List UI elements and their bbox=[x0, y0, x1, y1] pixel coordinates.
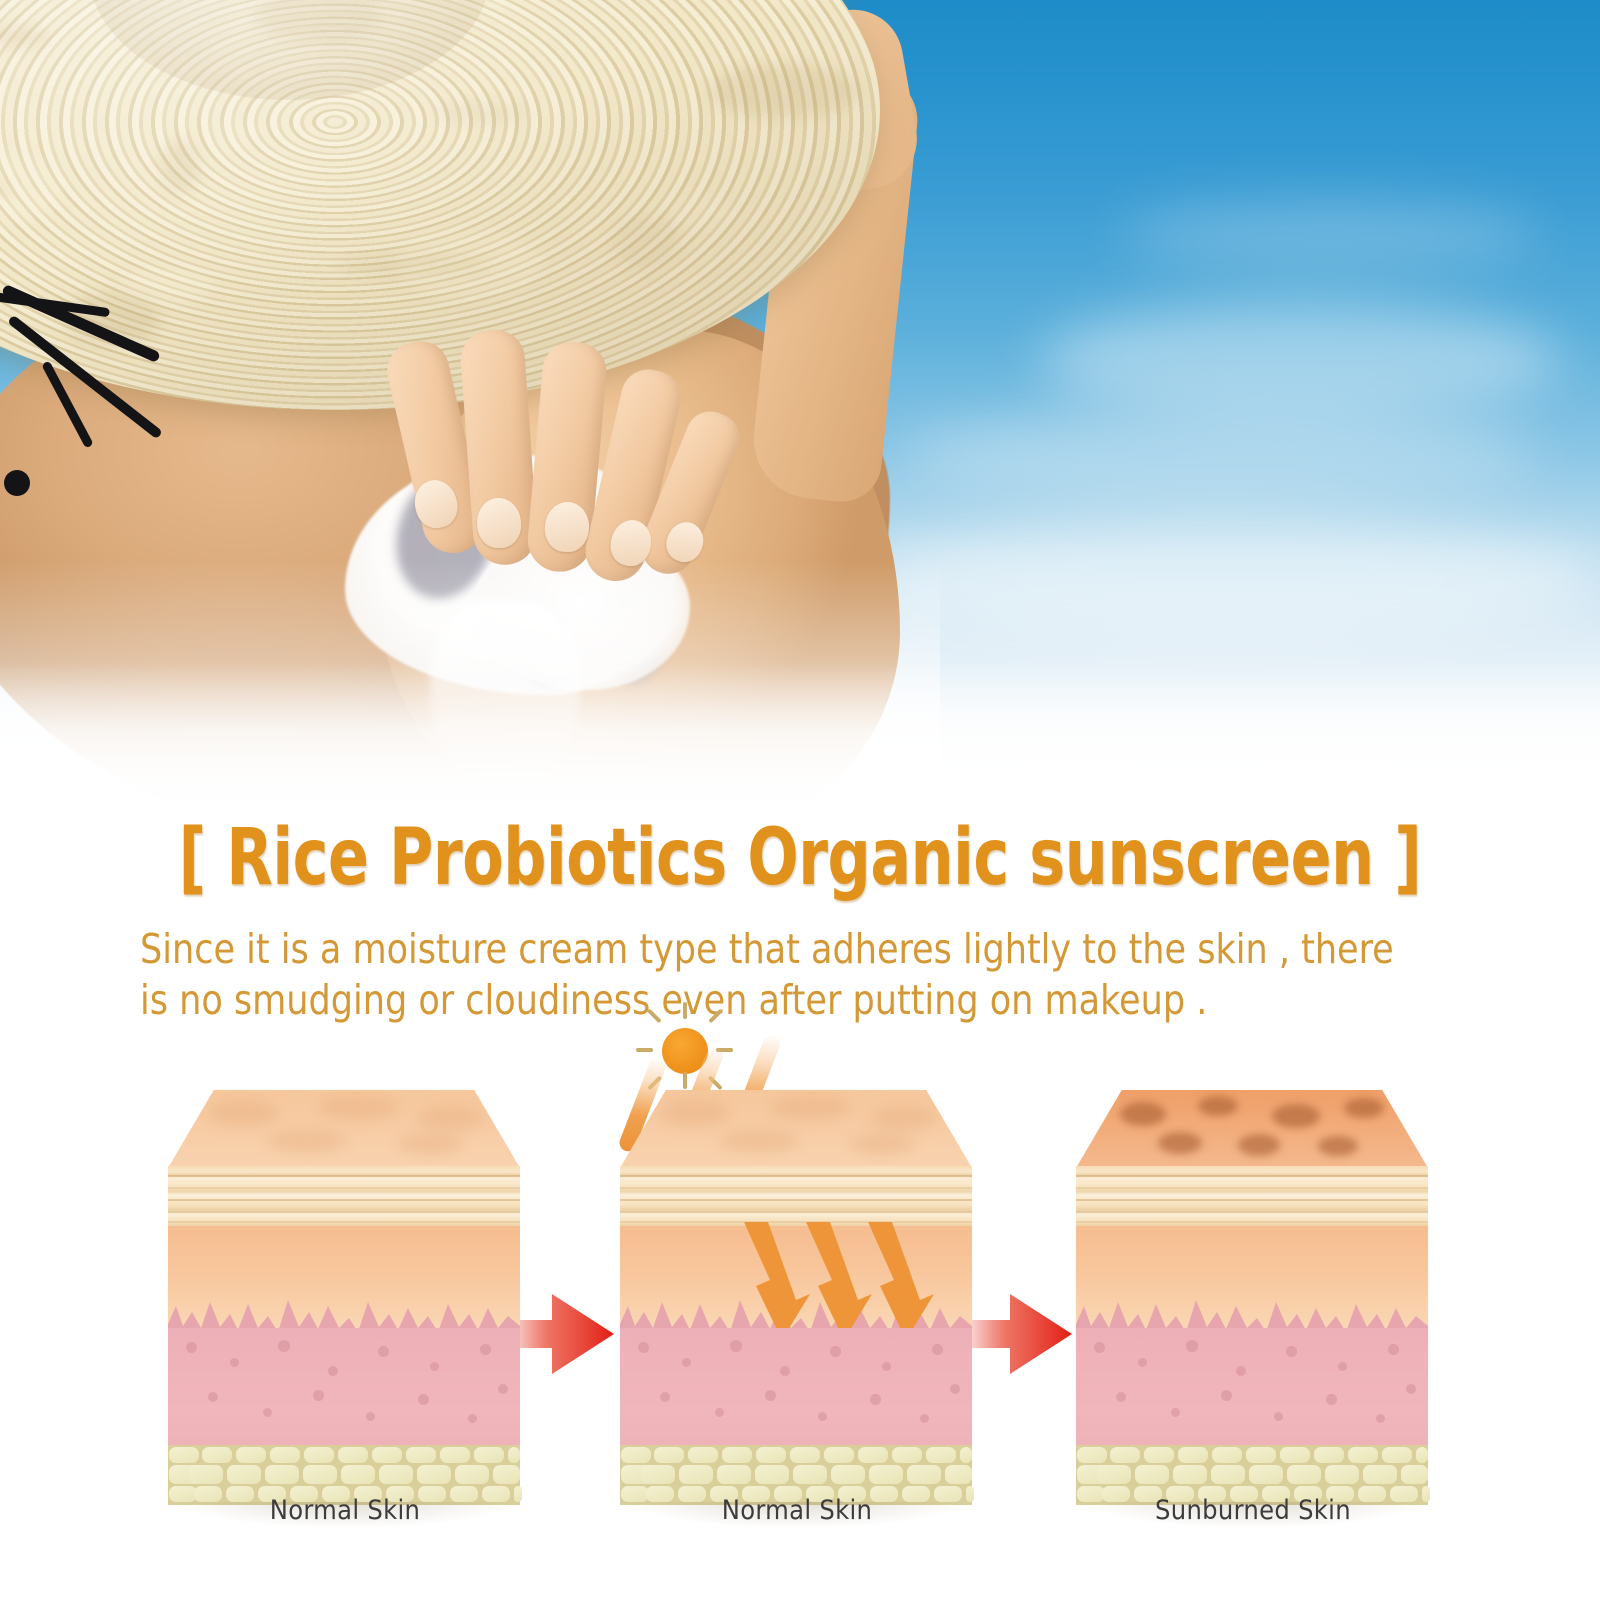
fat-cell bbox=[717, 1465, 751, 1484]
sun-ray bbox=[683, 1072, 687, 1089]
fat-cell bbox=[793, 1465, 827, 1484]
sunburn-spot bbox=[1238, 1134, 1280, 1156]
skin-top-surface bbox=[620, 1090, 972, 1168]
product-marketing-page: [ Rice Probiotics Organic sunscreen ] Si… bbox=[0, 0, 1600, 1600]
fat-cell bbox=[945, 1465, 972, 1484]
fat-cell bbox=[654, 1447, 684, 1463]
skin-panel-sun-exposure: Normal Skin bbox=[612, 1090, 982, 1530]
sun-ray bbox=[636, 1048, 653, 1052]
fat-cell bbox=[406, 1447, 436, 1463]
fat-cell bbox=[236, 1447, 266, 1463]
fat-cell bbox=[722, 1447, 752, 1463]
fat-cell bbox=[1280, 1447, 1310, 1463]
hat-weave-texture bbox=[667, 191, 735, 229]
fat-cell bbox=[960, 1447, 972, 1463]
fat-cell bbox=[1287, 1465, 1321, 1484]
fat-cell bbox=[869, 1465, 903, 1484]
fat-cell bbox=[493, 1465, 520, 1484]
fat-cell bbox=[688, 1447, 718, 1463]
fat-cell bbox=[304, 1447, 334, 1463]
hat-tie-knot bbox=[4, 470, 30, 496]
skin-panel-normal: Normal Skin bbox=[160, 1090, 530, 1530]
sunburn-spot bbox=[1198, 1096, 1238, 1116]
fat-cell bbox=[455, 1465, 489, 1484]
hat-weave-texture bbox=[612, 216, 680, 270]
fat-cell bbox=[169, 1447, 199, 1463]
fat-cell bbox=[1135, 1465, 1169, 1484]
fat-cell bbox=[379, 1465, 413, 1484]
fat-cell bbox=[1144, 1447, 1174, 1463]
fat-cell bbox=[892, 1447, 922, 1463]
hat-weave-texture bbox=[393, 229, 545, 299]
fat-cell bbox=[790, 1447, 820, 1463]
sunburn-spot bbox=[1318, 1136, 1358, 1156]
fat-cell bbox=[338, 1447, 368, 1463]
fat-cell bbox=[621, 1447, 651, 1463]
stratum-corneum-layer bbox=[620, 1166, 972, 1228]
fat-cell bbox=[508, 1447, 520, 1463]
fat-cell bbox=[824, 1447, 854, 1463]
fat-cell bbox=[1110, 1447, 1140, 1463]
hero-photo bbox=[0, 0, 1600, 812]
fat-cell bbox=[1401, 1465, 1428, 1484]
fat-cell bbox=[202, 1447, 232, 1463]
page-title: [ Rice Probiotics Organic sunscreen ] bbox=[112, 818, 1488, 898]
panel-label: Normal Skin bbox=[612, 1495, 982, 1526]
hat-weave-texture bbox=[119, 267, 215, 305]
cloud-wisp bbox=[1040, 300, 1560, 420]
fat-cell bbox=[679, 1465, 713, 1484]
fat-cell bbox=[1211, 1465, 1245, 1484]
sunburn-spot bbox=[1158, 1132, 1202, 1154]
fat-cell bbox=[1249, 1465, 1283, 1484]
fat-cell bbox=[1178, 1447, 1208, 1463]
skin-block bbox=[168, 1090, 520, 1482]
fat-cell bbox=[270, 1447, 300, 1463]
sunburn-spot bbox=[1120, 1102, 1166, 1126]
cloud-wisp bbox=[1120, 200, 1540, 270]
panel-label: Normal Skin bbox=[160, 1495, 530, 1526]
dermis-layer bbox=[168, 1328, 520, 1448]
fat-cell bbox=[858, 1447, 888, 1463]
fat-cell bbox=[1382, 1447, 1412, 1463]
fat-cell bbox=[1173, 1465, 1207, 1484]
fat-cell bbox=[1097, 1465, 1131, 1484]
fat-cell bbox=[1325, 1465, 1359, 1484]
fat-cell bbox=[907, 1465, 941, 1484]
fat-cell bbox=[755, 1465, 789, 1484]
skin-block bbox=[620, 1090, 972, 1482]
fat-cell bbox=[440, 1447, 470, 1463]
stratum-corneum-layer bbox=[1076, 1166, 1428, 1228]
fat-cell bbox=[417, 1465, 451, 1484]
fat-cell bbox=[756, 1447, 786, 1463]
dermis-layer bbox=[1076, 1328, 1428, 1448]
cloud-wisp bbox=[860, 520, 1600, 640]
fat-cell bbox=[1416, 1447, 1428, 1463]
hat-weave-texture bbox=[708, 64, 860, 118]
fat-cell bbox=[474, 1447, 504, 1463]
page-subtitle: Since it is a moisture cream type that a… bbox=[140, 924, 1404, 1026]
skin-layer-diagram: Normal Skin bbox=[0, 1030, 1600, 1560]
dermis-layer bbox=[620, 1328, 972, 1448]
fat-cell bbox=[1212, 1447, 1242, 1463]
skin-block bbox=[1076, 1090, 1428, 1482]
fat-cell bbox=[1363, 1465, 1397, 1484]
fat-cell bbox=[1348, 1447, 1378, 1463]
hat-weave-texture bbox=[160, 140, 200, 194]
fat-cell bbox=[303, 1465, 337, 1484]
cloud-wisp bbox=[900, 410, 1540, 500]
uv-penetration-arrow-icon bbox=[862, 1222, 936, 1342]
hat-weave-texture bbox=[434, 102, 530, 124]
panel-label: Sunburned Skin bbox=[1068, 1495, 1438, 1526]
fat-cell bbox=[189, 1465, 223, 1484]
fat-cell bbox=[1314, 1447, 1344, 1463]
sunburn-spot bbox=[1344, 1098, 1384, 1118]
fat-cell bbox=[372, 1447, 402, 1463]
fat-cell bbox=[926, 1447, 956, 1463]
sunburn-spot bbox=[1272, 1104, 1320, 1128]
fat-cell bbox=[265, 1465, 299, 1484]
fat-cell bbox=[1246, 1447, 1276, 1463]
fat-cell bbox=[641, 1465, 675, 1484]
fat-cell bbox=[831, 1465, 865, 1484]
skin-top-surface bbox=[168, 1090, 520, 1168]
fat-cell bbox=[341, 1465, 375, 1484]
fat-cell bbox=[1077, 1447, 1107, 1463]
skin-panel-sunburned: Sunburned Skin bbox=[1068, 1090, 1438, 1530]
fat-cell bbox=[227, 1465, 261, 1484]
skin-top-surface-sunburned bbox=[1076, 1090, 1428, 1168]
hat-weave-texture bbox=[215, 115, 255, 153]
sun-ray bbox=[683, 1002, 687, 1019]
photo-fade-to-white bbox=[0, 662, 1600, 812]
stratum-corneum-layer bbox=[168, 1166, 520, 1228]
